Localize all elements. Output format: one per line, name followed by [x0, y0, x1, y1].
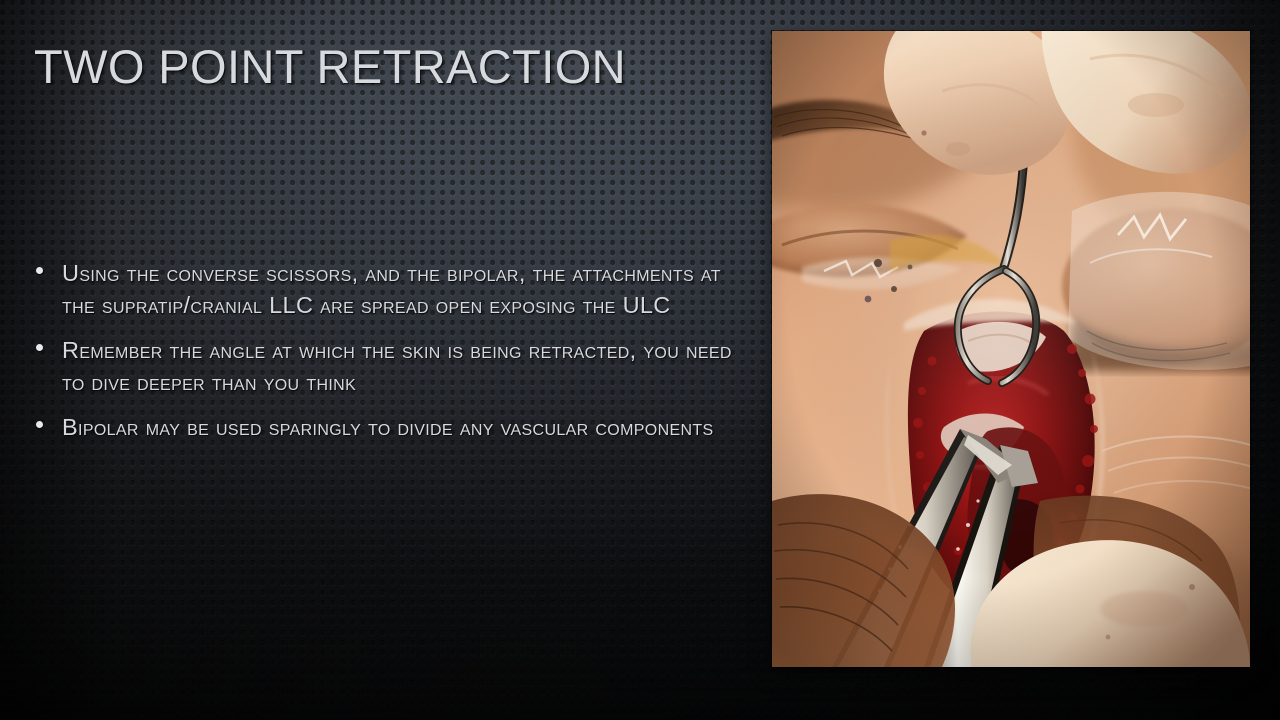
slide-title: Two Point Retraction: [34, 41, 734, 93]
open-rhinoplasty-two-point-retraction-photo: [772, 31, 1250, 667]
bullet-item-3: Bipolar may be used sparingly to divide …: [24, 412, 758, 444]
bullet-marker-icon: [24, 412, 62, 428]
bullet-item-1: Using the converse scissors, and the bip…: [24, 258, 758, 322]
bullet-marker-icon: [24, 335, 62, 351]
bullet-text-3: Bipolar may be used sparingly to divide …: [62, 412, 758, 444]
slide-body-bullet-list: Using the converse scissors, and the bip…: [24, 258, 758, 457]
bullet-text-2: Remember the angle at which the skin is …: [62, 335, 758, 399]
bullet-text-1: Using the converse scissors, and the bip…: [62, 258, 758, 322]
presentation-slide: Two Point Retraction Using the converse …: [0, 0, 1280, 720]
bullet-item-2: Remember the angle at which the skin is …: [24, 335, 758, 399]
bullet-marker-icon: [24, 258, 62, 274]
